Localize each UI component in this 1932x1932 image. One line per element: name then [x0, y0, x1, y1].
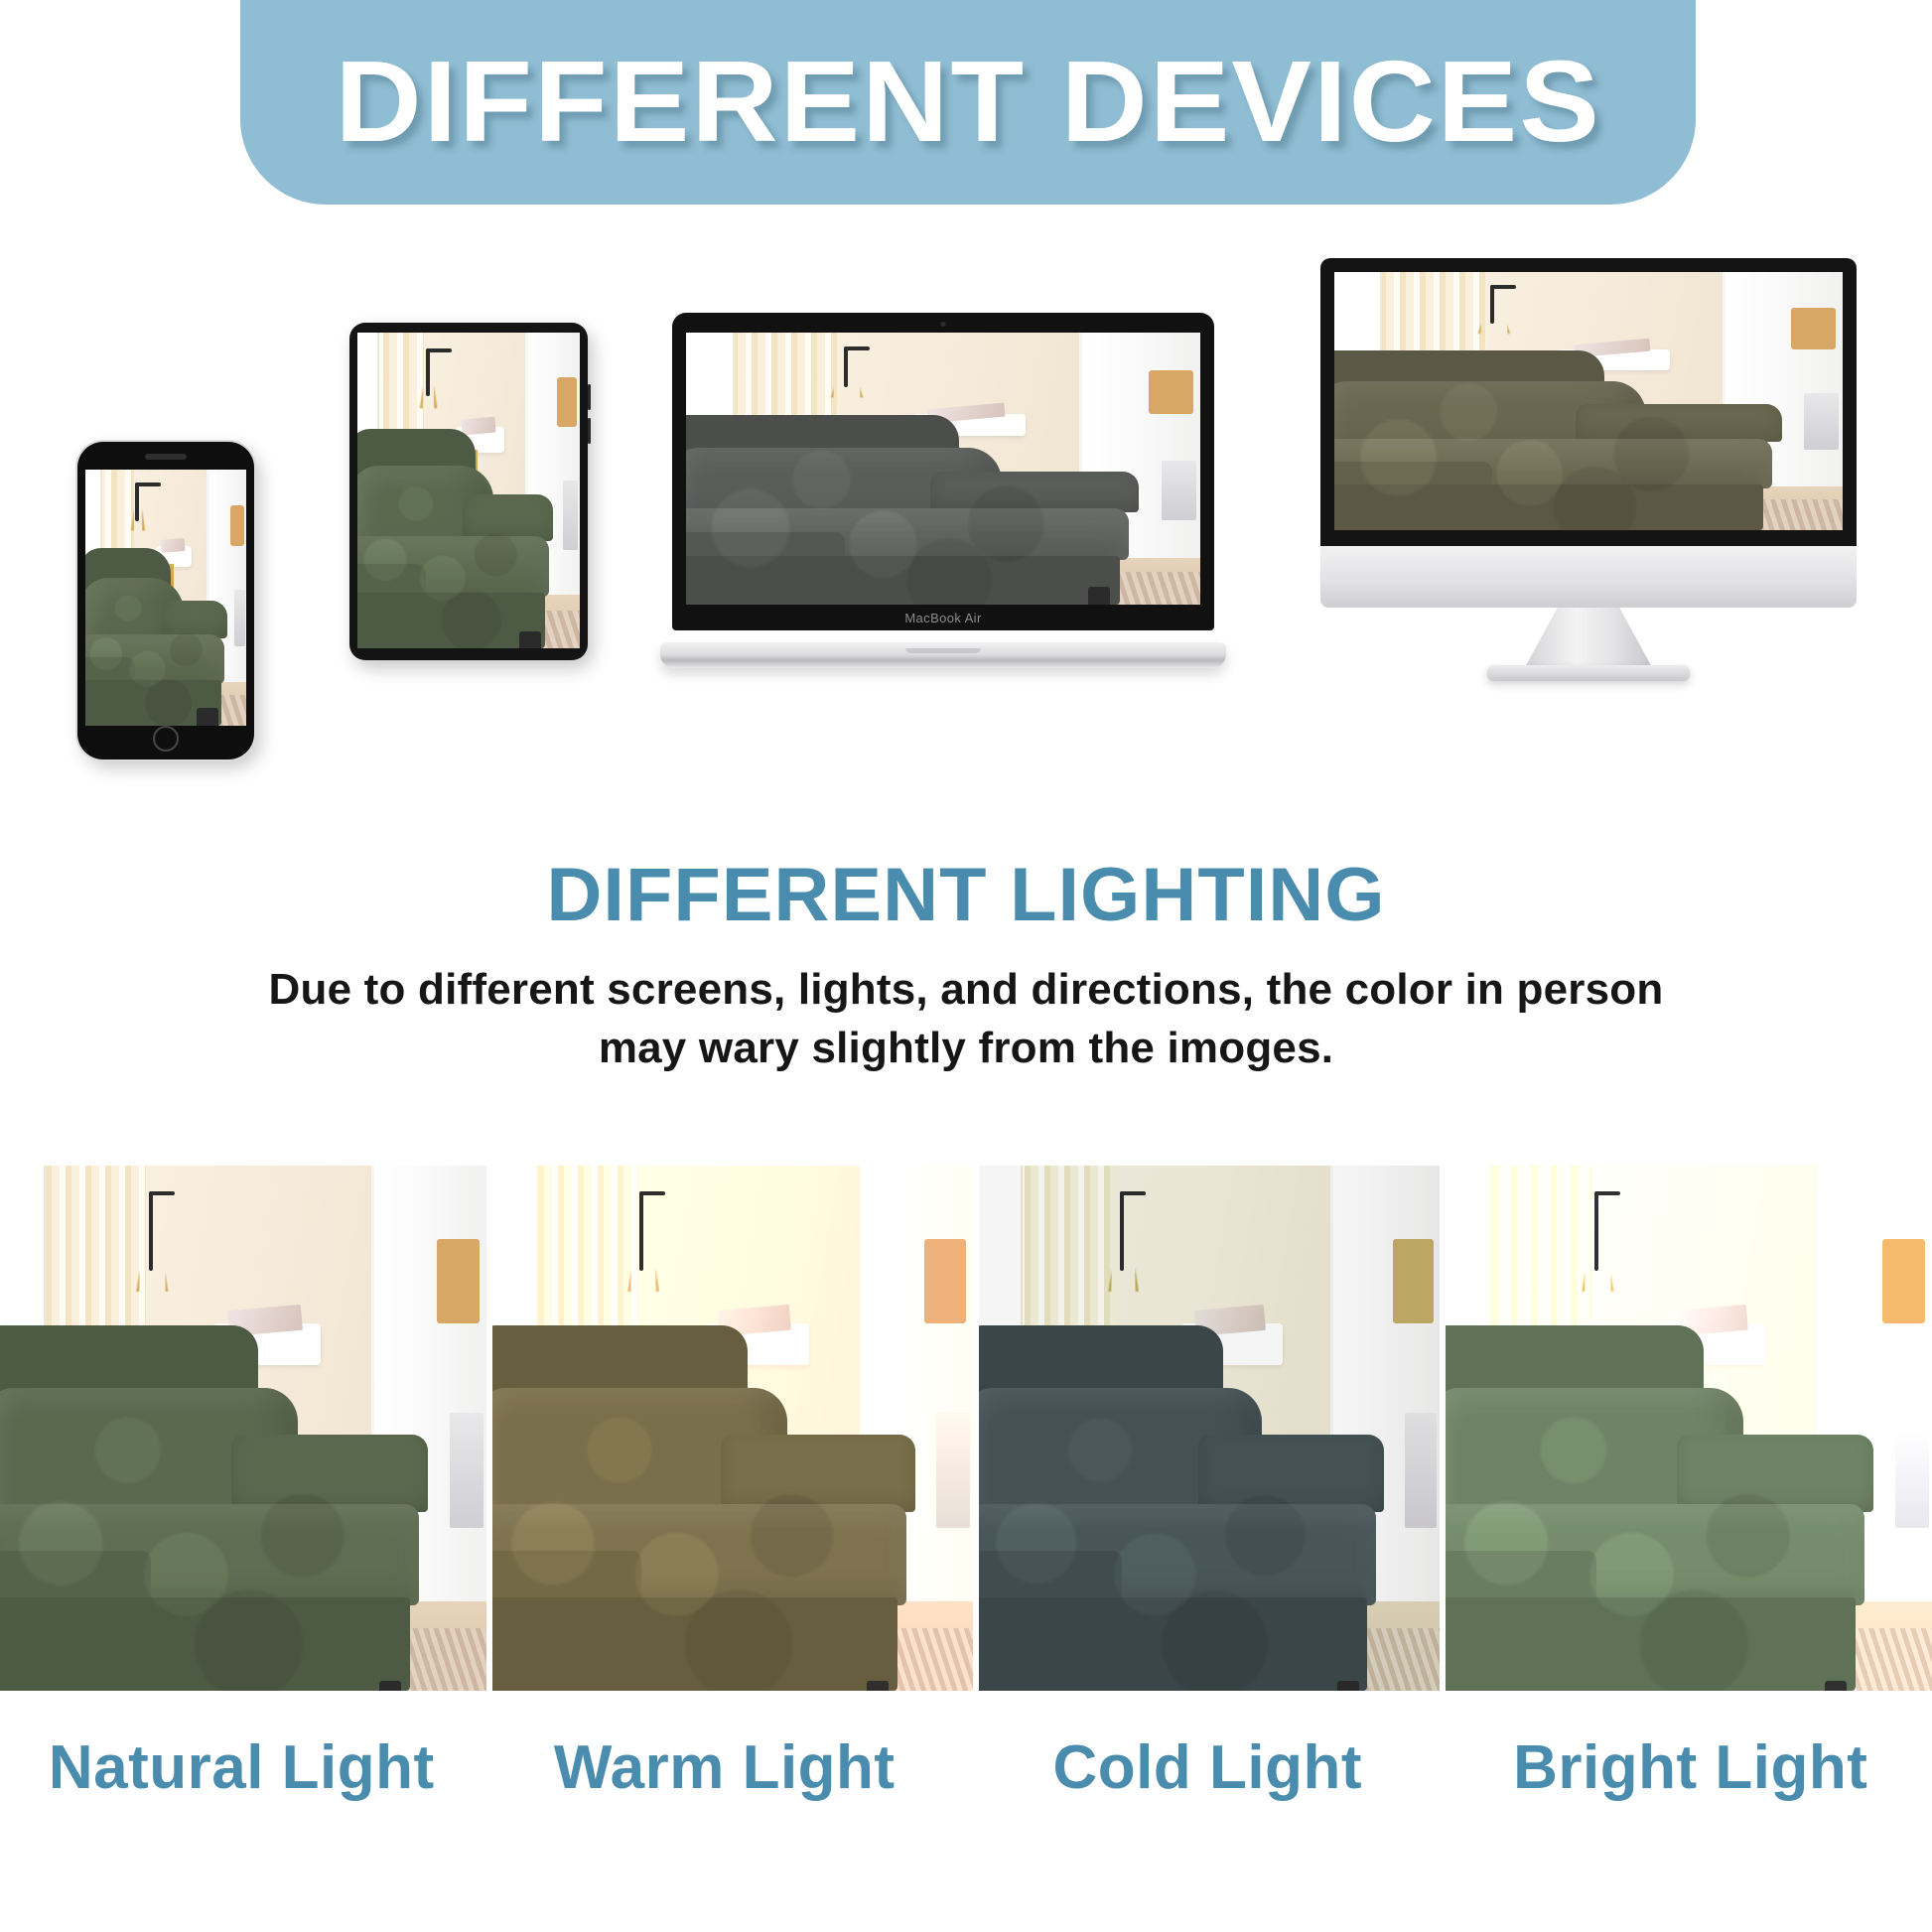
sofa-armrest [231, 1435, 428, 1512]
phone-screen [85, 470, 246, 726]
label-cold-light: Cold Light [966, 1732, 1449, 1842]
monitor-stand-base [1487, 665, 1691, 681]
room-scene-photo [0, 1166, 486, 1691]
lighting-sample-strip [0, 1166, 1932, 1691]
lighting-sample-bright [1446, 1166, 1932, 1691]
label-warm-light: Warm Light [483, 1732, 967, 1842]
tablet-screen [357, 333, 580, 648]
monitor-chin [1320, 546, 1857, 608]
sofa-base [0, 1597, 410, 1691]
room-scene-photo [1446, 1166, 1932, 1691]
laptop-brand-label: MacBook Air [672, 611, 1214, 625]
sofa-leg [867, 1681, 889, 1691]
scene-sofa [979, 1303, 1384, 1691]
sofa-armrest [930, 472, 1139, 512]
laptop-base-deck [660, 642, 1226, 668]
lighting-section-heading: DIFFERENT LIGHTING [0, 852, 1932, 938]
scene-sofa [357, 415, 553, 648]
sofa-base [686, 556, 1120, 605]
lighting-sample-labels: Natural Light Warm Light Cold Light Brig… [0, 1732, 1932, 1842]
sofa-base [1446, 1597, 1856, 1691]
laptop-lid: MacBook Air [672, 313, 1214, 630]
tablet-volume-down-button[interactable] [588, 418, 591, 444]
room-scene-photo [979, 1166, 1440, 1691]
room-scene-photo [492, 1166, 973, 1691]
subtitle-line-2: slightly from the imoges. [811, 1024, 1333, 1072]
sofa-base [357, 593, 545, 648]
laptop-lid-notch [905, 648, 981, 653]
monitor-stand-neck [1524, 608, 1653, 669]
sofa-armrest [1576, 404, 1781, 442]
scene-sofa [686, 403, 1139, 605]
device-tablet [349, 323, 588, 660]
sofa-base [1334, 484, 1763, 530]
sofa-armrest [463, 494, 553, 541]
sofa-armrest [162, 601, 227, 638]
monitor-screen [1334, 272, 1843, 530]
lighting-section-subtitle: Due to different screens, lights, and di… [231, 961, 1701, 1078]
sofa-leg [1825, 1681, 1847, 1691]
device-desktop-monitor [1320, 258, 1857, 675]
sofa-leg [1337, 1681, 1359, 1691]
tablet-volume-up-button[interactable] [588, 384, 591, 410]
sofa-armrest [1198, 1435, 1385, 1512]
lighting-sample-natural [0, 1166, 486, 1691]
laptop-screen [686, 333, 1200, 605]
header-banner: DIFFERENT DEVICES [240, 0, 1696, 205]
scene-sofa [1334, 340, 1782, 530]
room-scene-photo [1334, 272, 1843, 530]
scene-sofa [1446, 1303, 1873, 1691]
scene-sofa [85, 536, 227, 726]
device-showcase-row: MacBook Air [0, 278, 1932, 834]
sofa-base [979, 1597, 1367, 1691]
monitor-bezel [1320, 258, 1857, 546]
sofa-leg [1088, 587, 1110, 605]
sofa-leg [519, 631, 541, 648]
phone-home-button-icon[interactable] [153, 726, 179, 752]
room-scene-photo [85, 470, 246, 726]
sofa-leg [379, 1681, 401, 1691]
scene-sofa [0, 1303, 428, 1691]
banner-title: DIFFERENT DEVICES [335, 35, 1600, 168]
laptop-webcam-icon [941, 322, 946, 327]
device-laptop: MacBook Air [660, 313, 1226, 670]
scene-sofa [492, 1303, 915, 1691]
room-scene-photo [357, 333, 580, 648]
lighting-sample-warm [492, 1166, 973, 1691]
label-natural-light: Natural Light [0, 1732, 483, 1842]
sofa-leg [197, 708, 218, 726]
room-scene-photo [686, 333, 1200, 605]
sofa-armrest [1677, 1435, 1873, 1512]
sofa-armrest [721, 1435, 915, 1512]
device-smartphone [77, 442, 254, 759]
lighting-sample-cold [979, 1166, 1440, 1691]
label-bright-light: Bright Light [1449, 1732, 1932, 1842]
phone-speaker-icon [145, 454, 187, 460]
sofa-base [492, 1597, 897, 1691]
